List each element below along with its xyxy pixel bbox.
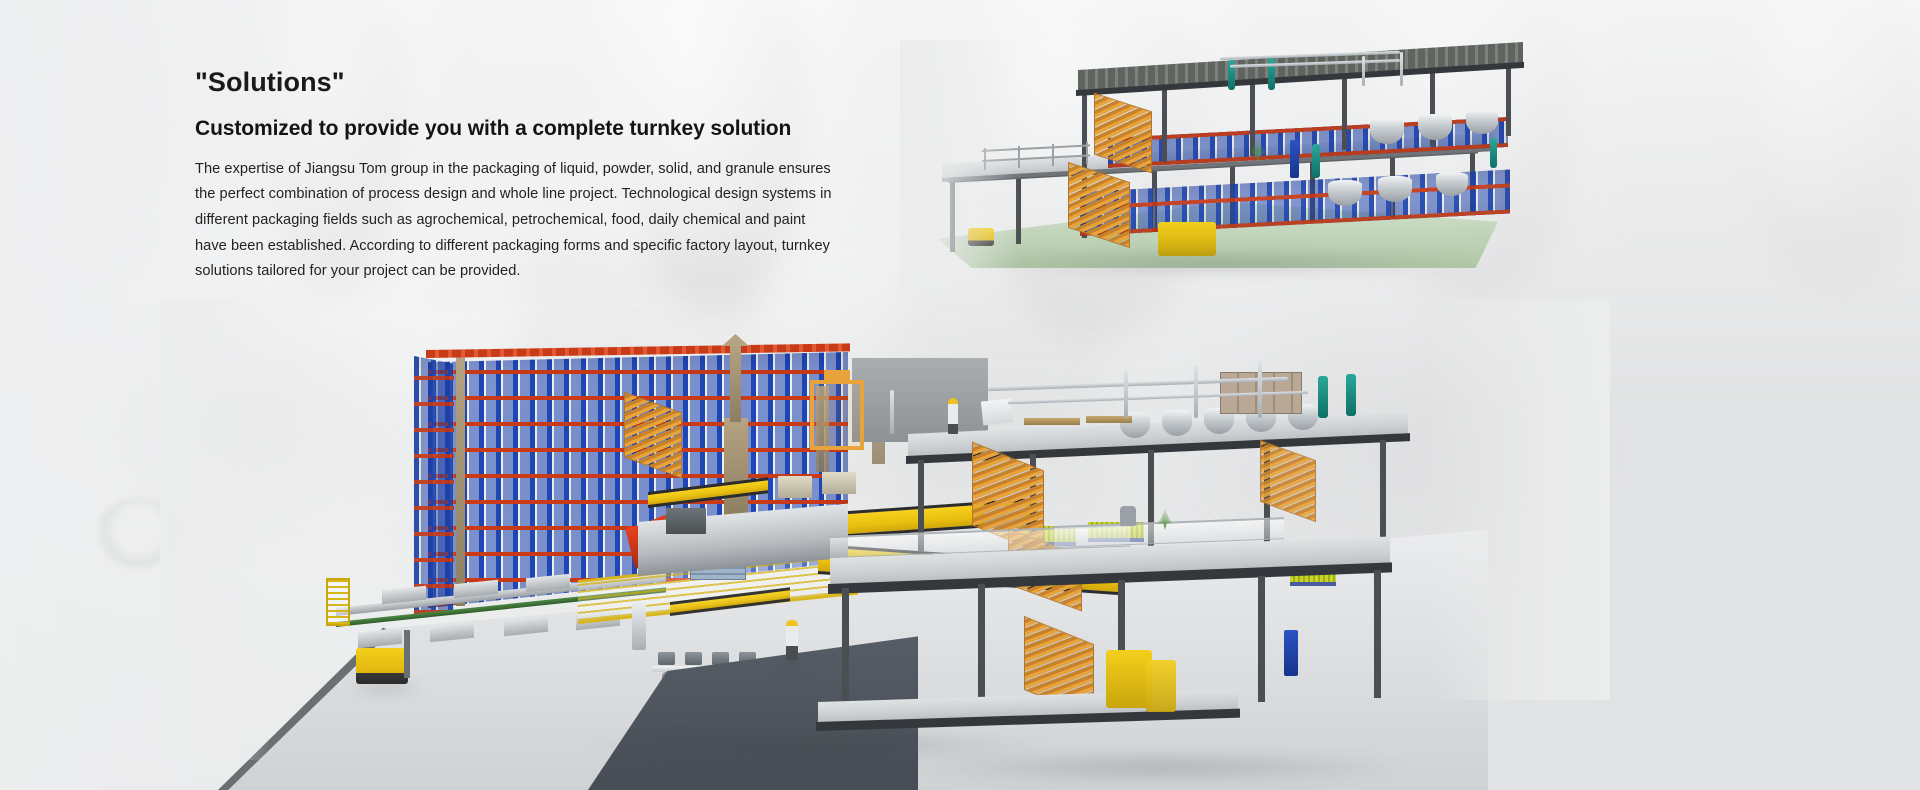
page-title: Customized to provide you with a complet… — [195, 116, 845, 141]
monitor — [685, 652, 702, 665]
pallet-load — [822, 472, 856, 494]
blue-process-column — [1284, 630, 1298, 676]
asrs-racking-front-aisle — [414, 356, 454, 614]
cage-lift-top — [824, 370, 850, 382]
process-column — [724, 418, 748, 518]
solutions-banner: "Solutions" Customized to provide you wi… — [0, 0, 1920, 790]
stack-cap — [722, 334, 749, 346]
render-right-fade — [1430, 300, 1610, 700]
office-chair-right — [1120, 506, 1136, 526]
render-top-fade — [900, 40, 1020, 290]
forklift-mast — [404, 630, 410, 678]
yellow-process-tank — [1146, 660, 1176, 712]
page-eyebrow: "Solutions" — [195, 68, 845, 98]
worker-on-mezzanine — [948, 398, 958, 434]
pallet-load — [778, 476, 812, 498]
cage-lift — [810, 380, 864, 450]
worker-in-lab-coat — [786, 620, 798, 660]
plant-blue-column — [1290, 140, 1299, 178]
safety-fence-left — [326, 578, 350, 626]
automated-warehouse-and-packaging-line-3d-render — [218, 330, 1488, 790]
control-kiosk — [632, 602, 646, 650]
forklift — [356, 648, 408, 684]
solutions-text-block: "Solutions" Customized to provide you wi… — [195, 68, 845, 285]
asrs-crane-mast — [456, 354, 465, 606]
machine-control-cabinet — [666, 508, 706, 534]
exhaust-stack — [730, 342, 741, 422]
render-left-fade — [160, 300, 270, 760]
multi-level-chemical-plant-3d-render — [930, 52, 1530, 282]
page-body-copy: The expertise of Jiangsu Tom group in th… — [195, 157, 837, 285]
lab-bench — [1024, 418, 1080, 425]
building-wall-panel — [852, 358, 988, 442]
monitor — [658, 652, 675, 665]
